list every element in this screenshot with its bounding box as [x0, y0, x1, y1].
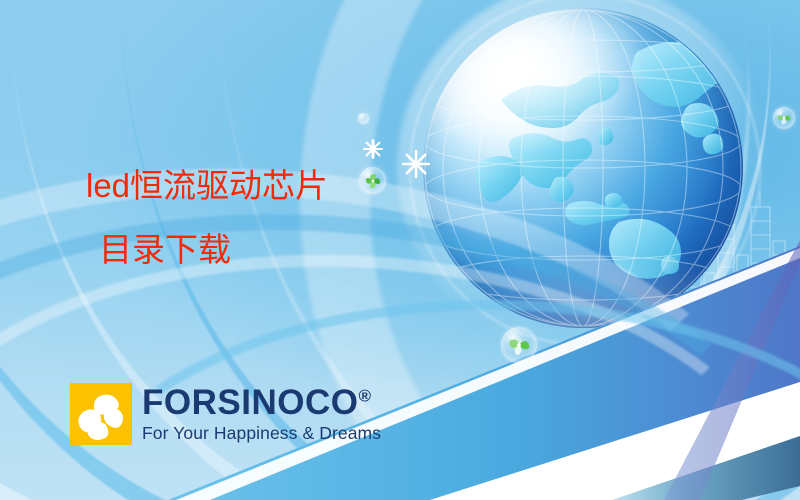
bubble-lower-center [501, 327, 537, 363]
promo-banner: led恒流驱动芯片 目录下载 FORSINOCO® For Your Happi… [0, 0, 800, 500]
bubble-small-upper [358, 113, 369, 124]
logo-wordmark-text: FORSINOCO [142, 383, 358, 422]
logo-wordmark: FORSINOCO® [142, 385, 381, 420]
four-petal-flower-icon [70, 383, 132, 445]
sparkle-lower [402, 150, 430, 178]
headline-line-2: 目录下载 [86, 208, 328, 274]
sparkle-upper [363, 139, 383, 159]
bubble-top-right [773, 107, 795, 129]
logo-text-block: FORSINOCO® For Your Happiness & Dreams [142, 383, 381, 444]
logo-tagline: For Your Happiness & Dreams [142, 420, 381, 444]
flower-petals [70, 383, 132, 445]
registered-trademark-symbol: ® [358, 386, 371, 405]
pinwheel-icon [777, 111, 792, 126]
bubble-center [359, 167, 386, 194]
headline-line-1: led恒流驱动芯片 [86, 163, 328, 208]
headline-text: led恒流驱动芯片 目录下载 [86, 163, 328, 274]
pinwheel-icon [507, 333, 531, 357]
pinwheel-icon [364, 172, 381, 189]
brand-logo: FORSINOCO® For Your Happiness & Dreams [70, 383, 381, 445]
